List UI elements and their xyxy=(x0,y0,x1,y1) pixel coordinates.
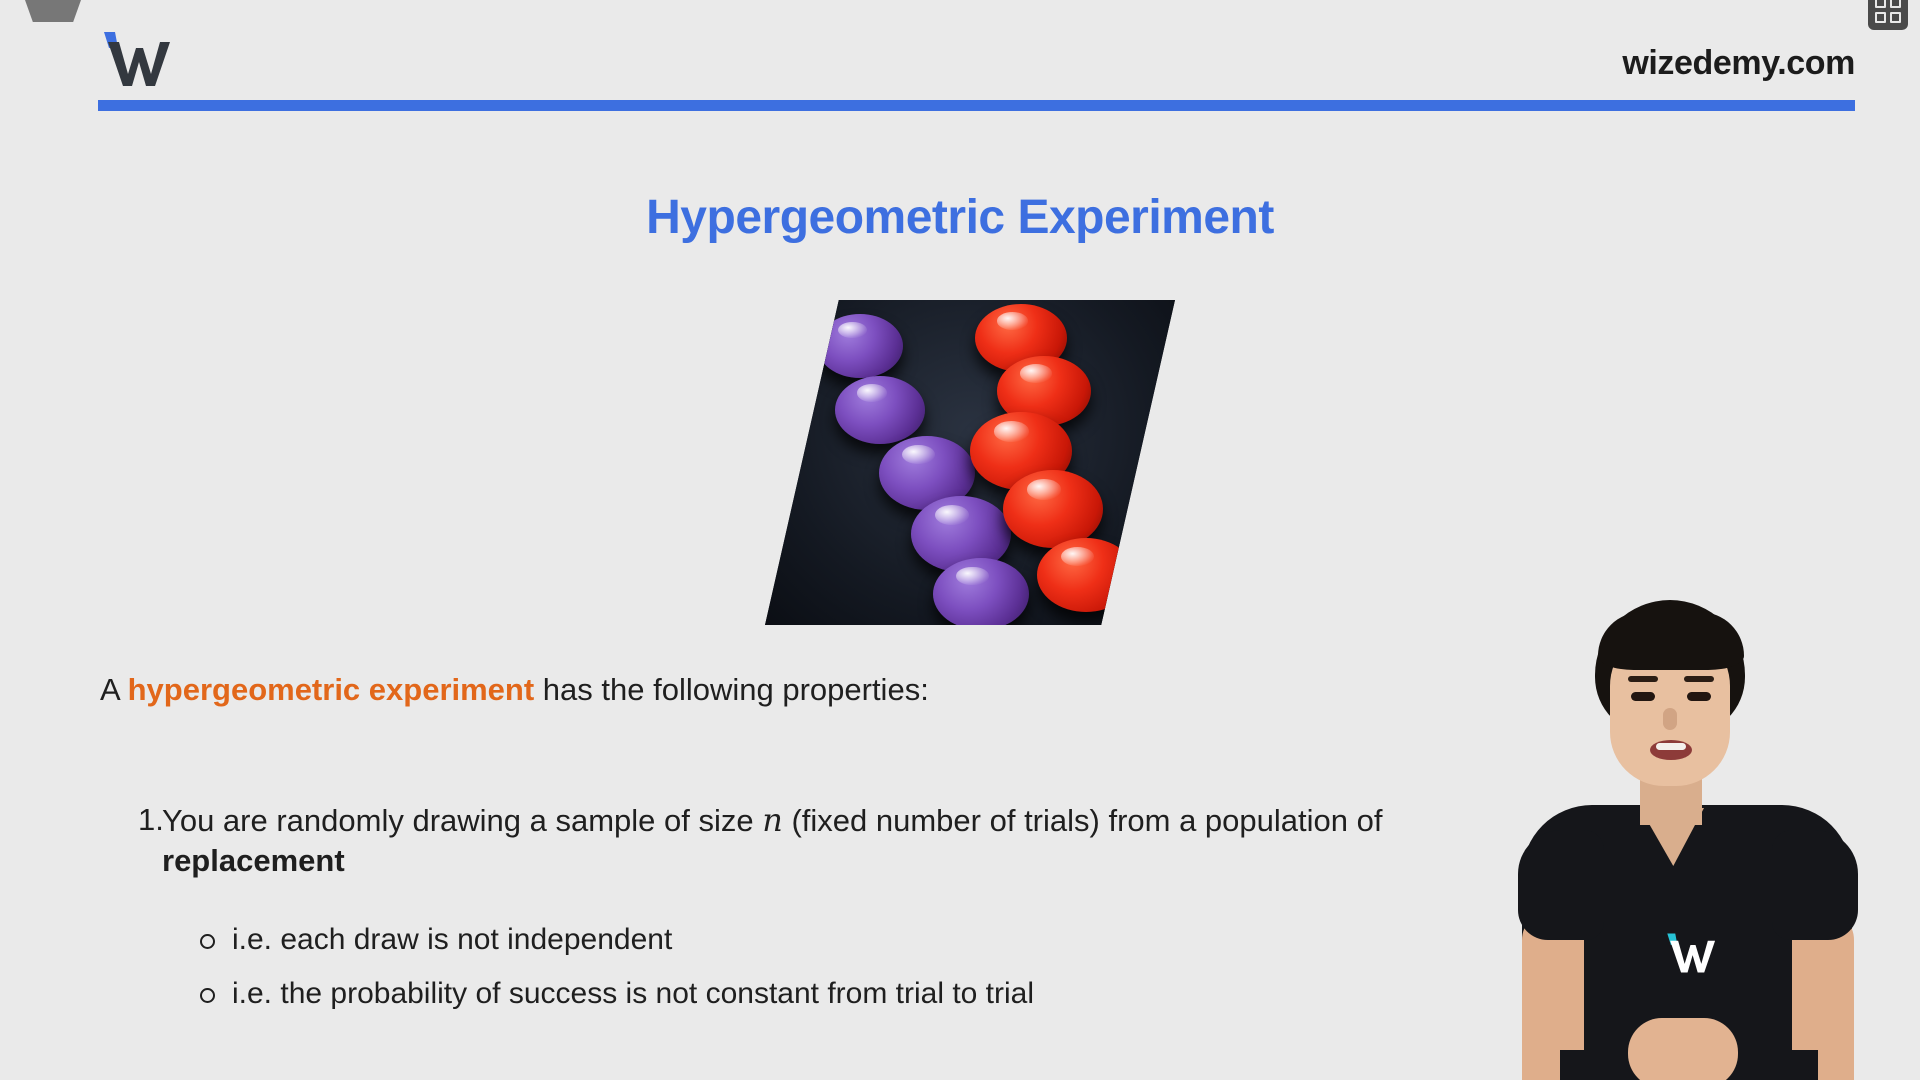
list-text-after-variable: (fixed number of trials) from a populati… xyxy=(783,803,1383,838)
math-variable-n: n xyxy=(762,801,783,839)
hollow-circle-bullet-icon xyxy=(200,934,232,949)
presenter-right-eye xyxy=(1687,692,1711,701)
grid-cell-icon xyxy=(1875,0,1886,8)
marbles-image xyxy=(765,300,1175,625)
sub-list-item-label: i.e. the probability of success is not c… xyxy=(232,975,1034,1013)
grid-cell-icon xyxy=(1890,12,1901,23)
presenter-fringe xyxy=(1598,612,1744,670)
header-divider xyxy=(98,100,1855,111)
presenter-hands xyxy=(1628,1018,1738,1080)
lead-highlight: hypergeometric experiment xyxy=(128,672,535,707)
presenter-mouth xyxy=(1650,740,1692,760)
grid-cell-icon xyxy=(1875,12,1886,23)
page-title: Hypergeometric Experiment xyxy=(0,190,1920,245)
presenter-nose xyxy=(1663,708,1677,730)
hollow-circle-bullet-icon xyxy=(200,988,232,1003)
presenter-left-eye xyxy=(1631,692,1655,701)
lead-text-after: has the following properties: xyxy=(534,672,929,707)
list-marker: 1. xyxy=(100,800,162,1029)
shirt-wizedemy-logo-icon xyxy=(1662,932,1716,974)
presenter-left-eyebrow xyxy=(1628,676,1658,682)
presenter-right-sleeve xyxy=(1772,830,1858,940)
lead-paragraph: A hypergeometric experiment has the foll… xyxy=(100,672,929,708)
lead-text-before: A xyxy=(100,672,128,707)
list-text-before-variable: You are randomly drawing a sample of siz… xyxy=(162,803,762,838)
sub-list-item-label: i.e. each draw is not independent xyxy=(232,921,672,959)
grid-view-button[interactable] xyxy=(1868,0,1908,30)
slide-header: wizedemy.com xyxy=(98,24,1855,104)
presenter-left-sleeve xyxy=(1518,830,1604,940)
marbles-figure xyxy=(765,300,1175,625)
brand-label: wizedemy.com xyxy=(1622,44,1855,83)
slide-screen: wizedemy.com Hypergeometric Experiment A… xyxy=(0,0,1920,1080)
wizedemy-logo-icon xyxy=(98,30,170,88)
presenter-right-eyebrow xyxy=(1684,676,1714,682)
grid-cell-icon xyxy=(1890,0,1901,8)
hexagon-indicator-icon xyxy=(25,0,81,22)
presenter-video-overlay xyxy=(1500,580,1920,1080)
